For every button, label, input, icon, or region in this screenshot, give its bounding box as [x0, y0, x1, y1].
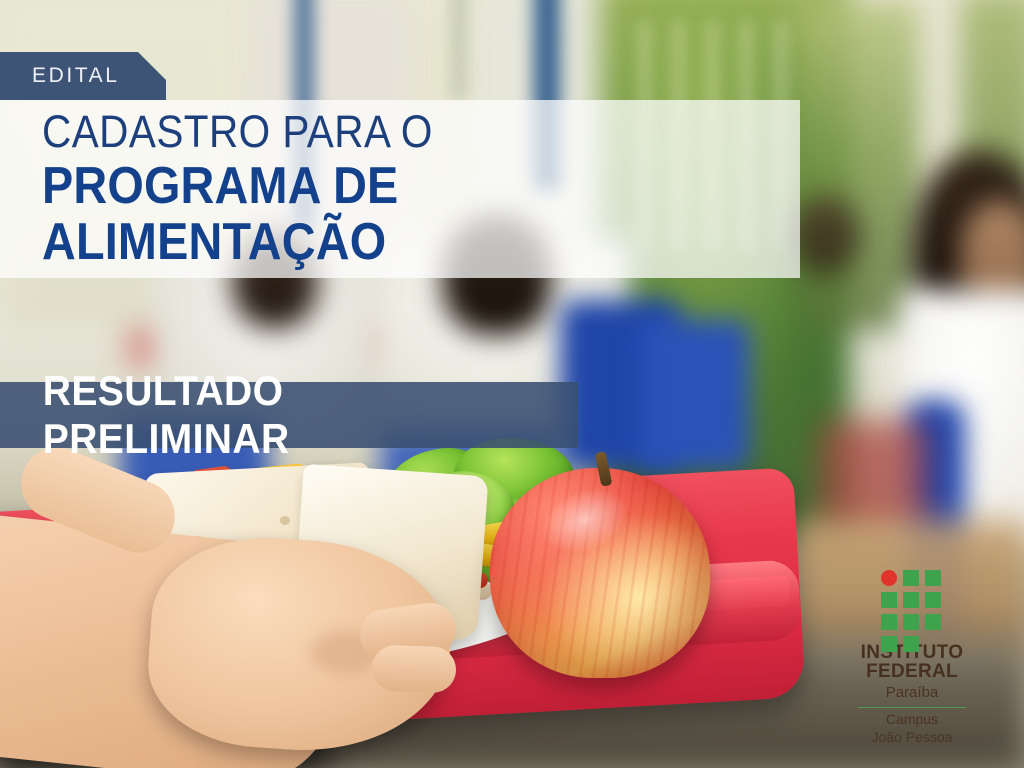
edital-badge-label: EDITAL	[0, 64, 120, 88]
logo-divider	[858, 707, 966, 709]
logo-text-campus-label: Campus	[828, 711, 996, 729]
logo-square	[903, 592, 919, 608]
meal-tray-group	[0, 430, 840, 768]
photo-foliage-right	[800, 0, 920, 330]
logo-text-state: Paraíba	[828, 683, 996, 703]
status-band: RESULTADO PRELIMINAR	[0, 382, 578, 448]
logo-square	[881, 636, 897, 652]
title-line-1: CADASTRO PARA O	[42, 108, 724, 156]
tortilla-spot	[280, 516, 290, 525]
poster-canvas: EDITAL CADASTRO PARA O PROGRAMA DE ALIME…	[0, 0, 1024, 768]
edital-badge: EDITAL	[0, 52, 166, 100]
logo-square	[925, 614, 941, 630]
logo-text-federal: FEDERAL	[828, 662, 996, 682]
status-band-label: RESULTADO PRELIMINAR	[0, 367, 538, 463]
finger	[371, 645, 457, 694]
logo-square	[925, 570, 941, 586]
photo-student-4-hair	[790, 195, 860, 275]
logo-square	[881, 592, 897, 608]
ifpb-logo-mark-icon	[881, 570, 943, 634]
logo-dot-red	[881, 570, 897, 586]
logo-square	[881, 614, 897, 630]
logo-square	[903, 636, 919, 652]
photo-window-mullion-3	[455, 0, 463, 100]
logo-text-campus-name: João Pessoa	[828, 729, 996, 747]
logo-square	[903, 614, 919, 630]
title-line-2: PROGRAMA DE ALIMENTAÇÃO	[42, 158, 724, 270]
ifpb-logo: INSTITUTO FEDERAL Paraíba Campus João Pe…	[828, 570, 996, 746]
title-panel: CADASTRO PARA O PROGRAMA DE ALIMENTAÇÃO	[0, 100, 800, 278]
logo-square	[903, 570, 919, 586]
logo-square	[925, 592, 941, 608]
